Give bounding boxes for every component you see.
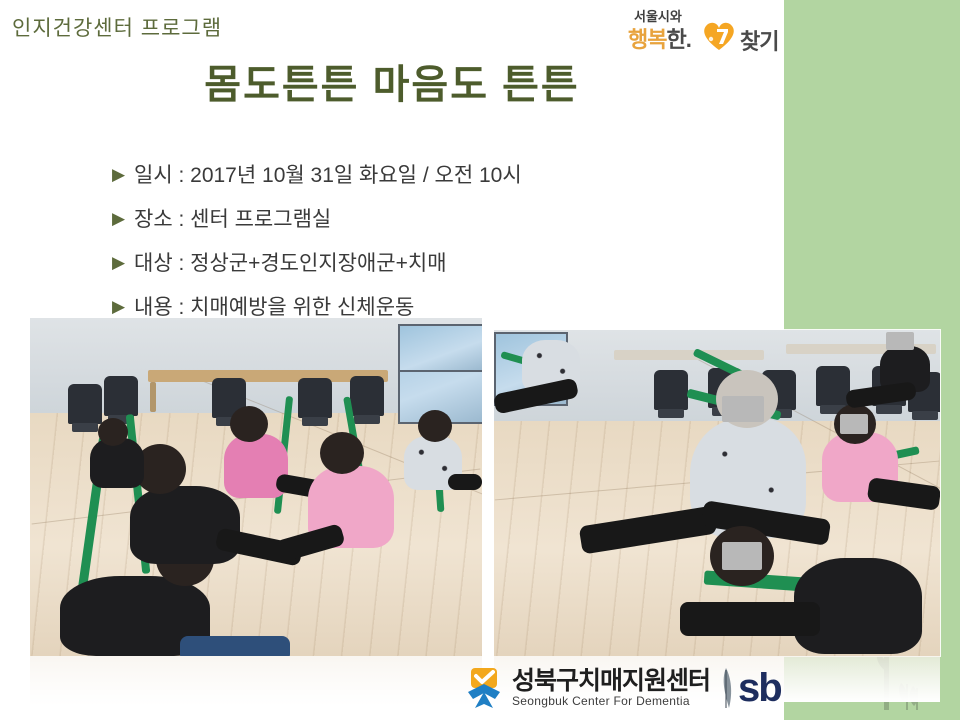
page-title: 몸도튼튼 마음도 튼튼 [0,52,784,110]
list-item-text: 일시 : 2017년 10월 31일 화요일 / 오전 10시 [134,159,732,189]
chair [350,376,384,416]
chair [298,378,332,418]
face-blur [886,332,914,350]
triangle-bullet-icon: ▶ [112,166,134,183]
list-item: ▶ 일시 : 2017년 10월 31일 화요일 / 오전 10시 [112,152,732,196]
leg [680,602,820,636]
program-detail-list: ▶ 일시 : 2017년 10월 31일 화요일 / 오전 10시 ▶ 장소 :… [112,152,732,328]
head [418,410,452,442]
photo-left-reflection [30,656,482,706]
presentation-slide: 인지건강센터 프로그램 몸도튼튼 마음도 튼튼 서울시와 행복한. 찾기 ▶ 일… [0,0,960,720]
brand-logo-rest: 한. [666,27,690,52]
photo-right [494,330,940,656]
seoul-happiness-logo: 서울시와 행복한. 찾기 [628,6,788,58]
head [320,432,364,474]
leg [448,474,482,490]
reflection-surface [30,656,482,706]
chair [104,376,138,416]
list-item-text: 장소 : 센터 프로그램실 [134,203,732,233]
sb-mark: sb [716,668,781,708]
sb-text: sb [738,668,781,708]
face-blur [722,396,764,422]
heart-icon [702,20,736,51]
footer-name-ko: 성북구치매지원센터 [512,668,710,694]
shelf [614,350,764,360]
brand-logo-line3: 찾기 [740,24,778,56]
head [98,418,128,446]
list-item: ▶ 대상 : 정상군+경도인지장애군+치매 [112,240,732,284]
list-item-text: 내용 : 치매예방을 위한 신체운동 [134,291,732,321]
triangle-bullet-icon: ▶ [112,298,134,315]
bamboo-plant-icon [874,650,932,712]
brand-logo-line2: 행복한. [628,22,691,54]
leg [180,636,290,656]
feather-icon [716,668,736,708]
face-blur [840,414,868,434]
brand-logo-accent: 행복 [628,27,666,52]
torso [130,486,240,564]
page-kicker: 인지건강센터 프로그램 [12,12,222,42]
footer-logo: 성북구치매지원센터 Seongbuk Center For Dementia s… [462,662,781,714]
footer-logo-names: 성북구치매지원센터 Seongbuk Center For Dementia [512,668,710,708]
footer-name-en: Seongbuk Center For Dementia [512,694,710,708]
triangle-bullet-icon: ▶ [112,210,134,227]
chair [68,384,102,424]
seongbuk-person-mark-icon [462,666,506,710]
photo-left [30,318,482,656]
triangle-bullet-icon: ▶ [112,254,134,271]
window [398,324,482,372]
torso [90,438,144,488]
chair [654,370,688,410]
table-leg [150,382,156,412]
head [230,406,268,442]
list-item: ▶ 장소 : 센터 프로그램실 [112,196,732,240]
chair [816,366,850,406]
face-blur [722,542,762,570]
list-item-text: 대상 : 정상군+경도인지장애군+치매 [134,247,732,277]
